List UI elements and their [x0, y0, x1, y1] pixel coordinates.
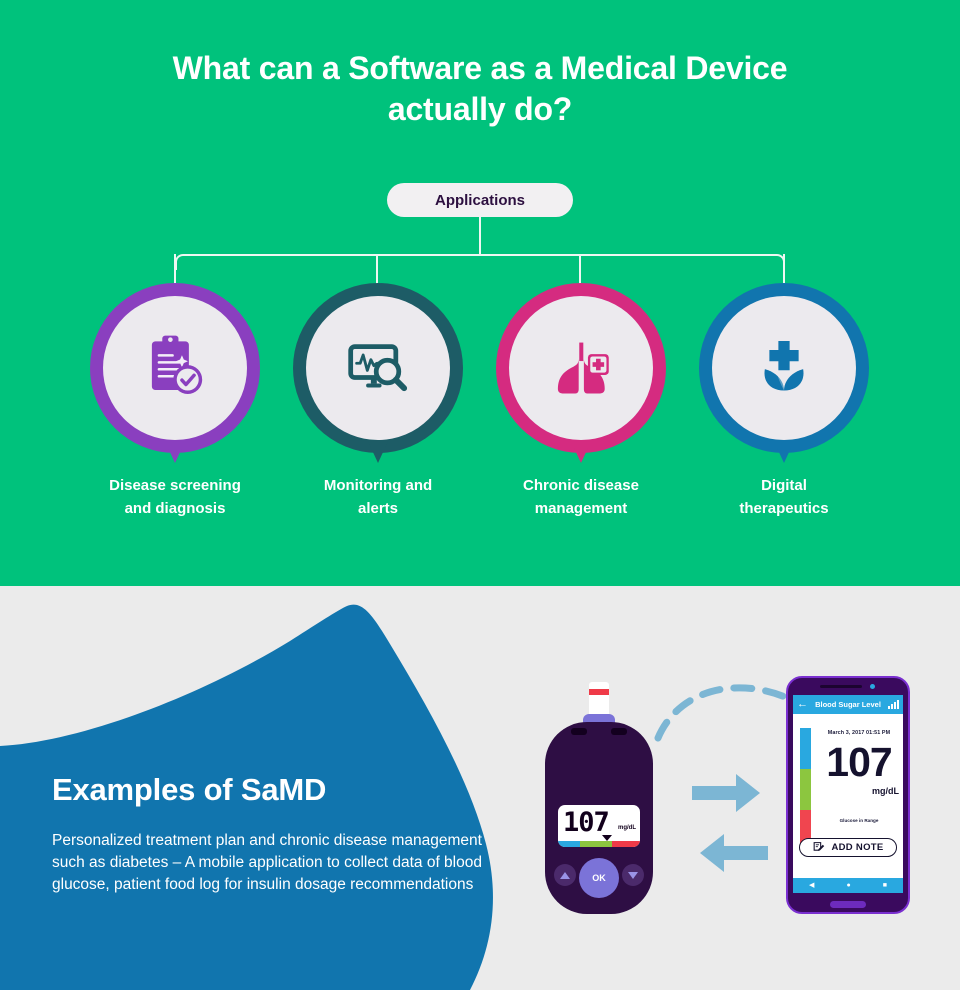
phone-speaker	[820, 685, 862, 688]
meter-lcd-display: 107 mg/dL	[558, 805, 640, 847]
node-label-1-line-2: and diagnosis	[125, 500, 226, 517]
node-disc-2	[306, 296, 450, 440]
applications-root-label: Applications	[435, 192, 525, 209]
node-disc-4	[712, 296, 856, 440]
arrow-left-icon	[700, 834, 768, 872]
phone-home-bar	[830, 901, 866, 908]
meter-ok-label: OK	[592, 873, 606, 883]
node-monitoring-alerts[interactable]: Monitoring and alerts	[293, 283, 463, 463]
applications-root-node: Applications	[387, 183, 573, 217]
meter-ok-button[interactable]: OK	[579, 858, 619, 898]
applications-section: What can a Software as a Medical Device …	[0, 0, 960, 586]
nav-home-icon[interactable]: ●	[846, 882, 850, 889]
up-arrow-icon	[560, 872, 570, 879]
node-label-2-line-2: alerts	[358, 500, 398, 517]
page-title-line-2: actually do?	[0, 89, 960, 130]
meter-slot-left	[571, 728, 587, 735]
meter-up-button[interactable]	[554, 864, 576, 886]
monitor-ecg-search-icon	[340, 330, 416, 406]
signal-strength-icon	[888, 700, 899, 709]
meter-reading-unit: mg/dL	[618, 825, 636, 831]
note-pencil-icon	[812, 841, 825, 854]
tree-trunk-line	[479, 217, 481, 255]
node-label-2: Monitoring and alerts	[281, 475, 475, 520]
glucose-meter[interactable]: 107 mg/dL OK	[545, 682, 653, 914]
reading-status-text: Glucose in Range	[817, 818, 901, 823]
smartphone[interactable]: ← Blood Sugar Level March 3, 2017 01:51 …	[786, 676, 910, 914]
node-label-2-line-1: Monitoring and	[324, 477, 432, 494]
node-chronic-disease[interactable]: Chronic disease management	[496, 283, 666, 463]
app-content: March 3, 2017 01:51 PM 107 mg/dL Glucose…	[793, 714, 903, 893]
test-strip-blood-band	[589, 689, 609, 695]
add-note-button[interactable]: ADD NOTE	[799, 838, 897, 857]
cross-leaves-icon	[748, 332, 820, 404]
meter-range-bar	[558, 841, 640, 847]
android-nav-bar: ◀ ● ■	[793, 878, 903, 893]
node-label-4-line-2: therapeutics	[739, 500, 828, 517]
meter-slot-right	[611, 728, 627, 735]
tree-horizontal-bar	[175, 254, 785, 270]
node-label-1: Disease screening and diagnosis	[78, 475, 272, 520]
meter-reading-value: 107	[563, 807, 609, 838]
phone-camera	[870, 684, 875, 689]
down-arrow-icon	[628, 872, 638, 879]
glucose-range-indicator	[800, 728, 811, 850]
node-digital-therapeutics[interactable]: Digital therapeutics	[699, 283, 869, 463]
node-label-3: Chronic disease management	[484, 475, 678, 520]
reading-unit: mg/dL	[815, 786, 899, 796]
node-disc-1	[103, 296, 247, 440]
nav-recents-icon[interactable]: ■	[883, 882, 887, 889]
node-disc-3	[509, 296, 653, 440]
back-arrow-icon[interactable]: ←	[797, 699, 808, 710]
lungs-cross-icon	[544, 331, 618, 405]
node-label-4: Digital therapeutics	[687, 475, 881, 520]
add-note-label: ADD NOTE	[831, 842, 883, 853]
node-disease-screening[interactable]: Disease screening and diagnosis	[90, 283, 260, 463]
reading-timestamp: March 3, 2017 01:51 PM	[817, 730, 901, 736]
phone-screen: ← Blood Sugar Level March 3, 2017 01:51 …	[793, 695, 903, 893]
examples-title: Examples of SaMD	[52, 772, 326, 808]
clipboard-check-icon	[138, 331, 212, 405]
infographic-page: What can a Software as a Medical Device …	[0, 0, 960, 990]
meter-down-button[interactable]	[622, 864, 644, 886]
dashed-arc-connector	[658, 688, 800, 738]
page-title-line-1: What can a Software as a Medical Device	[173, 50, 788, 86]
nav-back-icon[interactable]: ◀	[809, 882, 814, 889]
arrow-right-icon	[692, 774, 760, 812]
examples-body-text: Personalized treatment plan and chronic …	[52, 830, 484, 896]
node-label-3-line-1: Chronic disease	[523, 477, 639, 494]
app-title: Blood Sugar Level	[811, 700, 885, 709]
node-label-1-line-1: Disease screening	[109, 477, 241, 494]
page-title: What can a Software as a Medical Device …	[0, 48, 960, 130]
node-label-4-line-1: Digital	[761, 477, 807, 494]
node-label-3-line-2: management	[535, 500, 628, 517]
app-header-bar: ← Blood Sugar Level	[793, 695, 903, 714]
reading-value: 107	[815, 742, 903, 783]
